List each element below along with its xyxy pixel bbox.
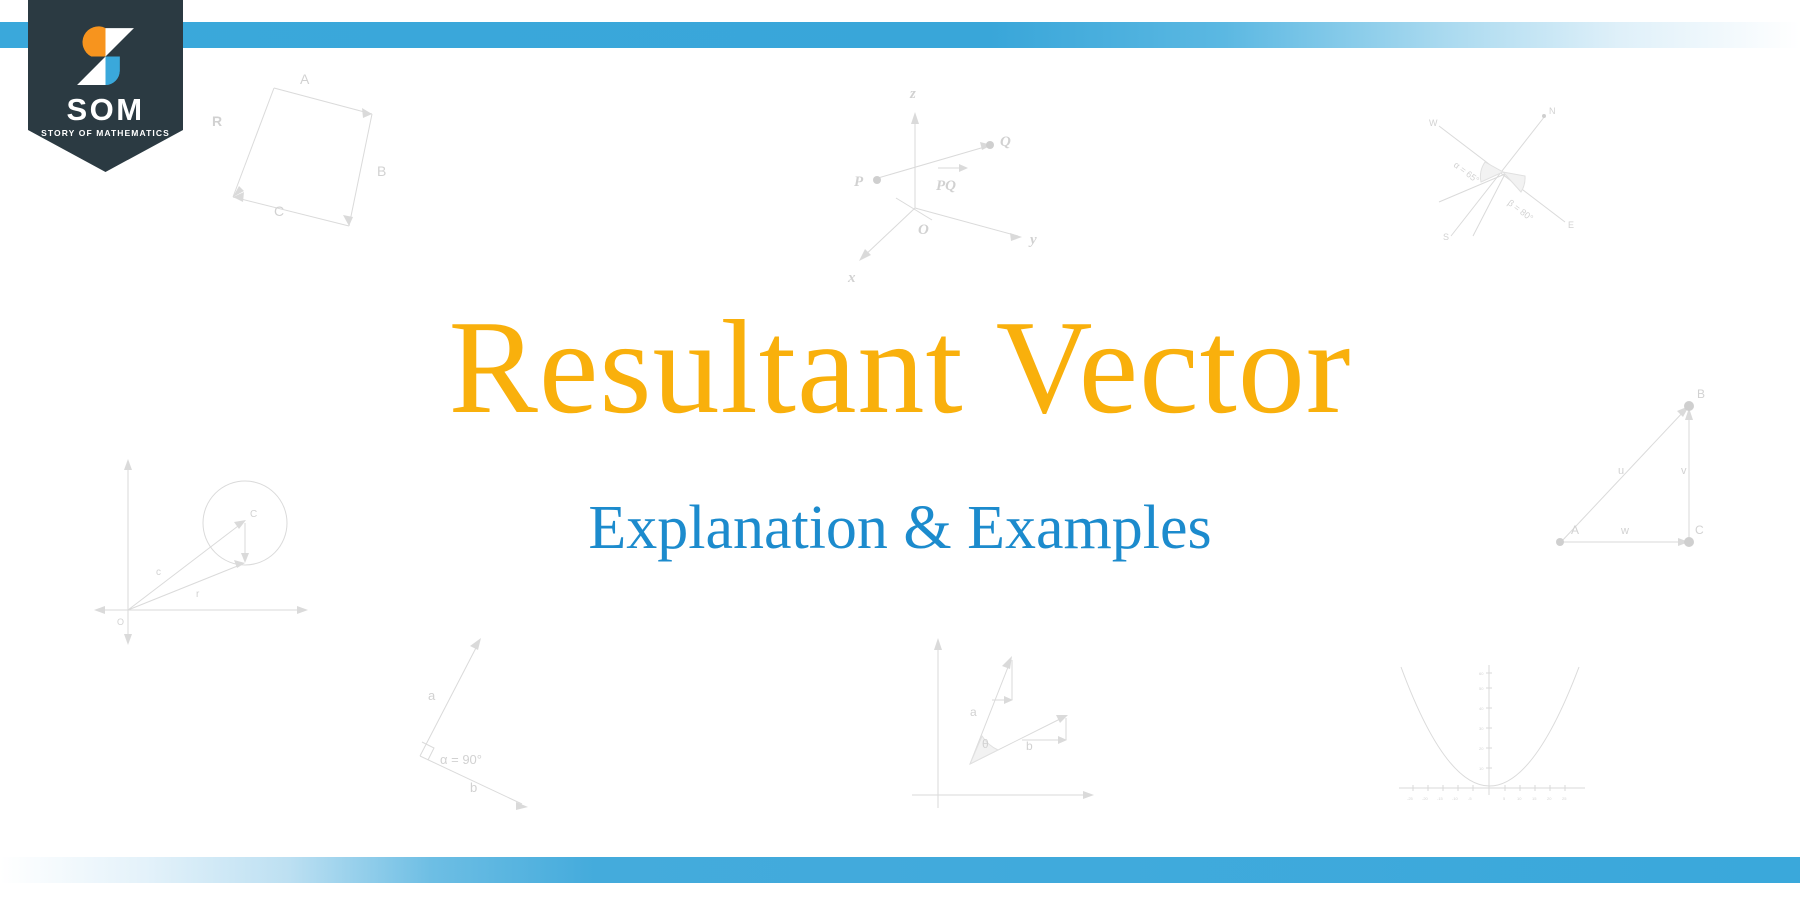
triangle-vertex-c: C bbox=[1695, 523, 1704, 537]
compass-label-s: S bbox=[1443, 232, 1449, 242]
theta-angle-label: θ bbox=[982, 737, 989, 751]
origin-label: O bbox=[918, 222, 929, 238]
parabola-ytick-2: 30 bbox=[1479, 726, 1484, 731]
triangle-vector-v: v bbox=[1681, 465, 1687, 477]
angle-label-beta: β = 80° bbox=[1506, 198, 1536, 224]
parabola-xtick-6: 10 bbox=[1517, 796, 1522, 801]
page-title: Resultant Vector bbox=[0, 300, 1800, 434]
logo-tagline: STORY OF MATHEMATICS bbox=[28, 128, 183, 138]
parabola-xtick-7: 15 bbox=[1532, 796, 1537, 801]
circle-center-label: C bbox=[250, 509, 257, 520]
slide-canvas: SOM STORY OF MATHEMATICS Resultant Vecto… bbox=[0, 0, 1800, 900]
compass-label-e: E bbox=[1568, 220, 1574, 230]
polygon-label-a: A bbox=[300, 71, 310, 87]
theta-vector-a: a bbox=[970, 705, 977, 719]
parabola-xtick-9: 25 bbox=[1562, 796, 1567, 801]
axis-label-x: x bbox=[847, 270, 856, 286]
triangle-vector-w: w bbox=[1620, 525, 1629, 537]
circle-radius-label: r bbox=[196, 589, 200, 600]
parabola-ytick-4: 50 bbox=[1479, 686, 1484, 691]
perp-vector-b: b bbox=[470, 780, 477, 795]
parabola-xtick-1: -20 bbox=[1422, 796, 1429, 801]
bottom-accent-bar bbox=[0, 857, 1800, 883]
compass-label-w: W bbox=[1429, 118, 1438, 128]
top-accent-bar bbox=[0, 22, 1800, 48]
parabola-xtick-3: -10 bbox=[1452, 796, 1459, 801]
point-label-p: P bbox=[854, 174, 864, 190]
vector-label-pq: PQ bbox=[936, 178, 956, 194]
axis-label-z: z bbox=[909, 86, 916, 102]
som-logo-banner[interactable]: SOM STORY OF MATHEMATICS bbox=[28, 0, 183, 172]
polygon-label-r: R bbox=[212, 113, 222, 129]
parabola-xtick-0: -25 bbox=[1407, 796, 1414, 801]
parabola-xtick-5: 5 bbox=[1503, 796, 1506, 801]
polygon-label-b: B bbox=[377, 163, 386, 179]
parabola-ytick-5: 60 bbox=[1479, 671, 1484, 676]
polygon-label-c: C bbox=[274, 203, 284, 219]
figure-3d-axes: z y x O P Q PQ bbox=[840, 68, 1070, 288]
figure-compass-angles: N S E W α = 65° β = 80° bbox=[1425, 100, 1600, 245]
parabola-xtick-2: -15 bbox=[1437, 796, 1444, 801]
triangle-vertex-a: A bbox=[1571, 523, 1579, 537]
parabola-xtick-8: 20 bbox=[1547, 796, 1552, 801]
compass-label-n: N bbox=[1549, 106, 1556, 116]
figure-vector-polygon: A R B C bbox=[212, 68, 412, 258]
parabola-ytick-0: 10 bbox=[1479, 766, 1484, 771]
figure-perpendicular-vectors: a b α = 90° bbox=[398, 628, 573, 828]
parabola-xtick-4: -5 bbox=[1468, 796, 1472, 801]
axis-label-y: y bbox=[1028, 232, 1037, 248]
triangle-vector-u: u bbox=[1618, 465, 1624, 477]
figure-triangle-vectors: B C A u v w bbox=[1555, 382, 1735, 567]
theta-vector-b: b bbox=[1026, 739, 1033, 753]
logo-wordmark: SOM bbox=[28, 92, 183, 128]
perp-angle-label: α = 90° bbox=[440, 752, 482, 767]
circle-origin-label: O bbox=[117, 617, 124, 627]
angle-label-alpha: α = 65° bbox=[1452, 160, 1482, 186]
som-s-mark-icon bbox=[73, 24, 138, 89]
perp-vector-a: a bbox=[428, 688, 436, 703]
triangle-vertex-b: B bbox=[1697, 387, 1705, 401]
figure-parabola-graph: -25 -20 -15 -10 -5 5 10 15 20 25 10 20 3… bbox=[1395, 655, 1590, 810]
circle-vector-c-label: c bbox=[156, 567, 161, 578]
parabola-ytick-1: 20 bbox=[1479, 746, 1484, 751]
point-label-q: Q bbox=[1000, 134, 1011, 150]
parabola-ytick-3: 40 bbox=[1479, 706, 1484, 711]
figure-circle-vector: O C c r bbox=[90, 455, 310, 650]
figure-theta-vectors: a b θ bbox=[912, 630, 1127, 830]
